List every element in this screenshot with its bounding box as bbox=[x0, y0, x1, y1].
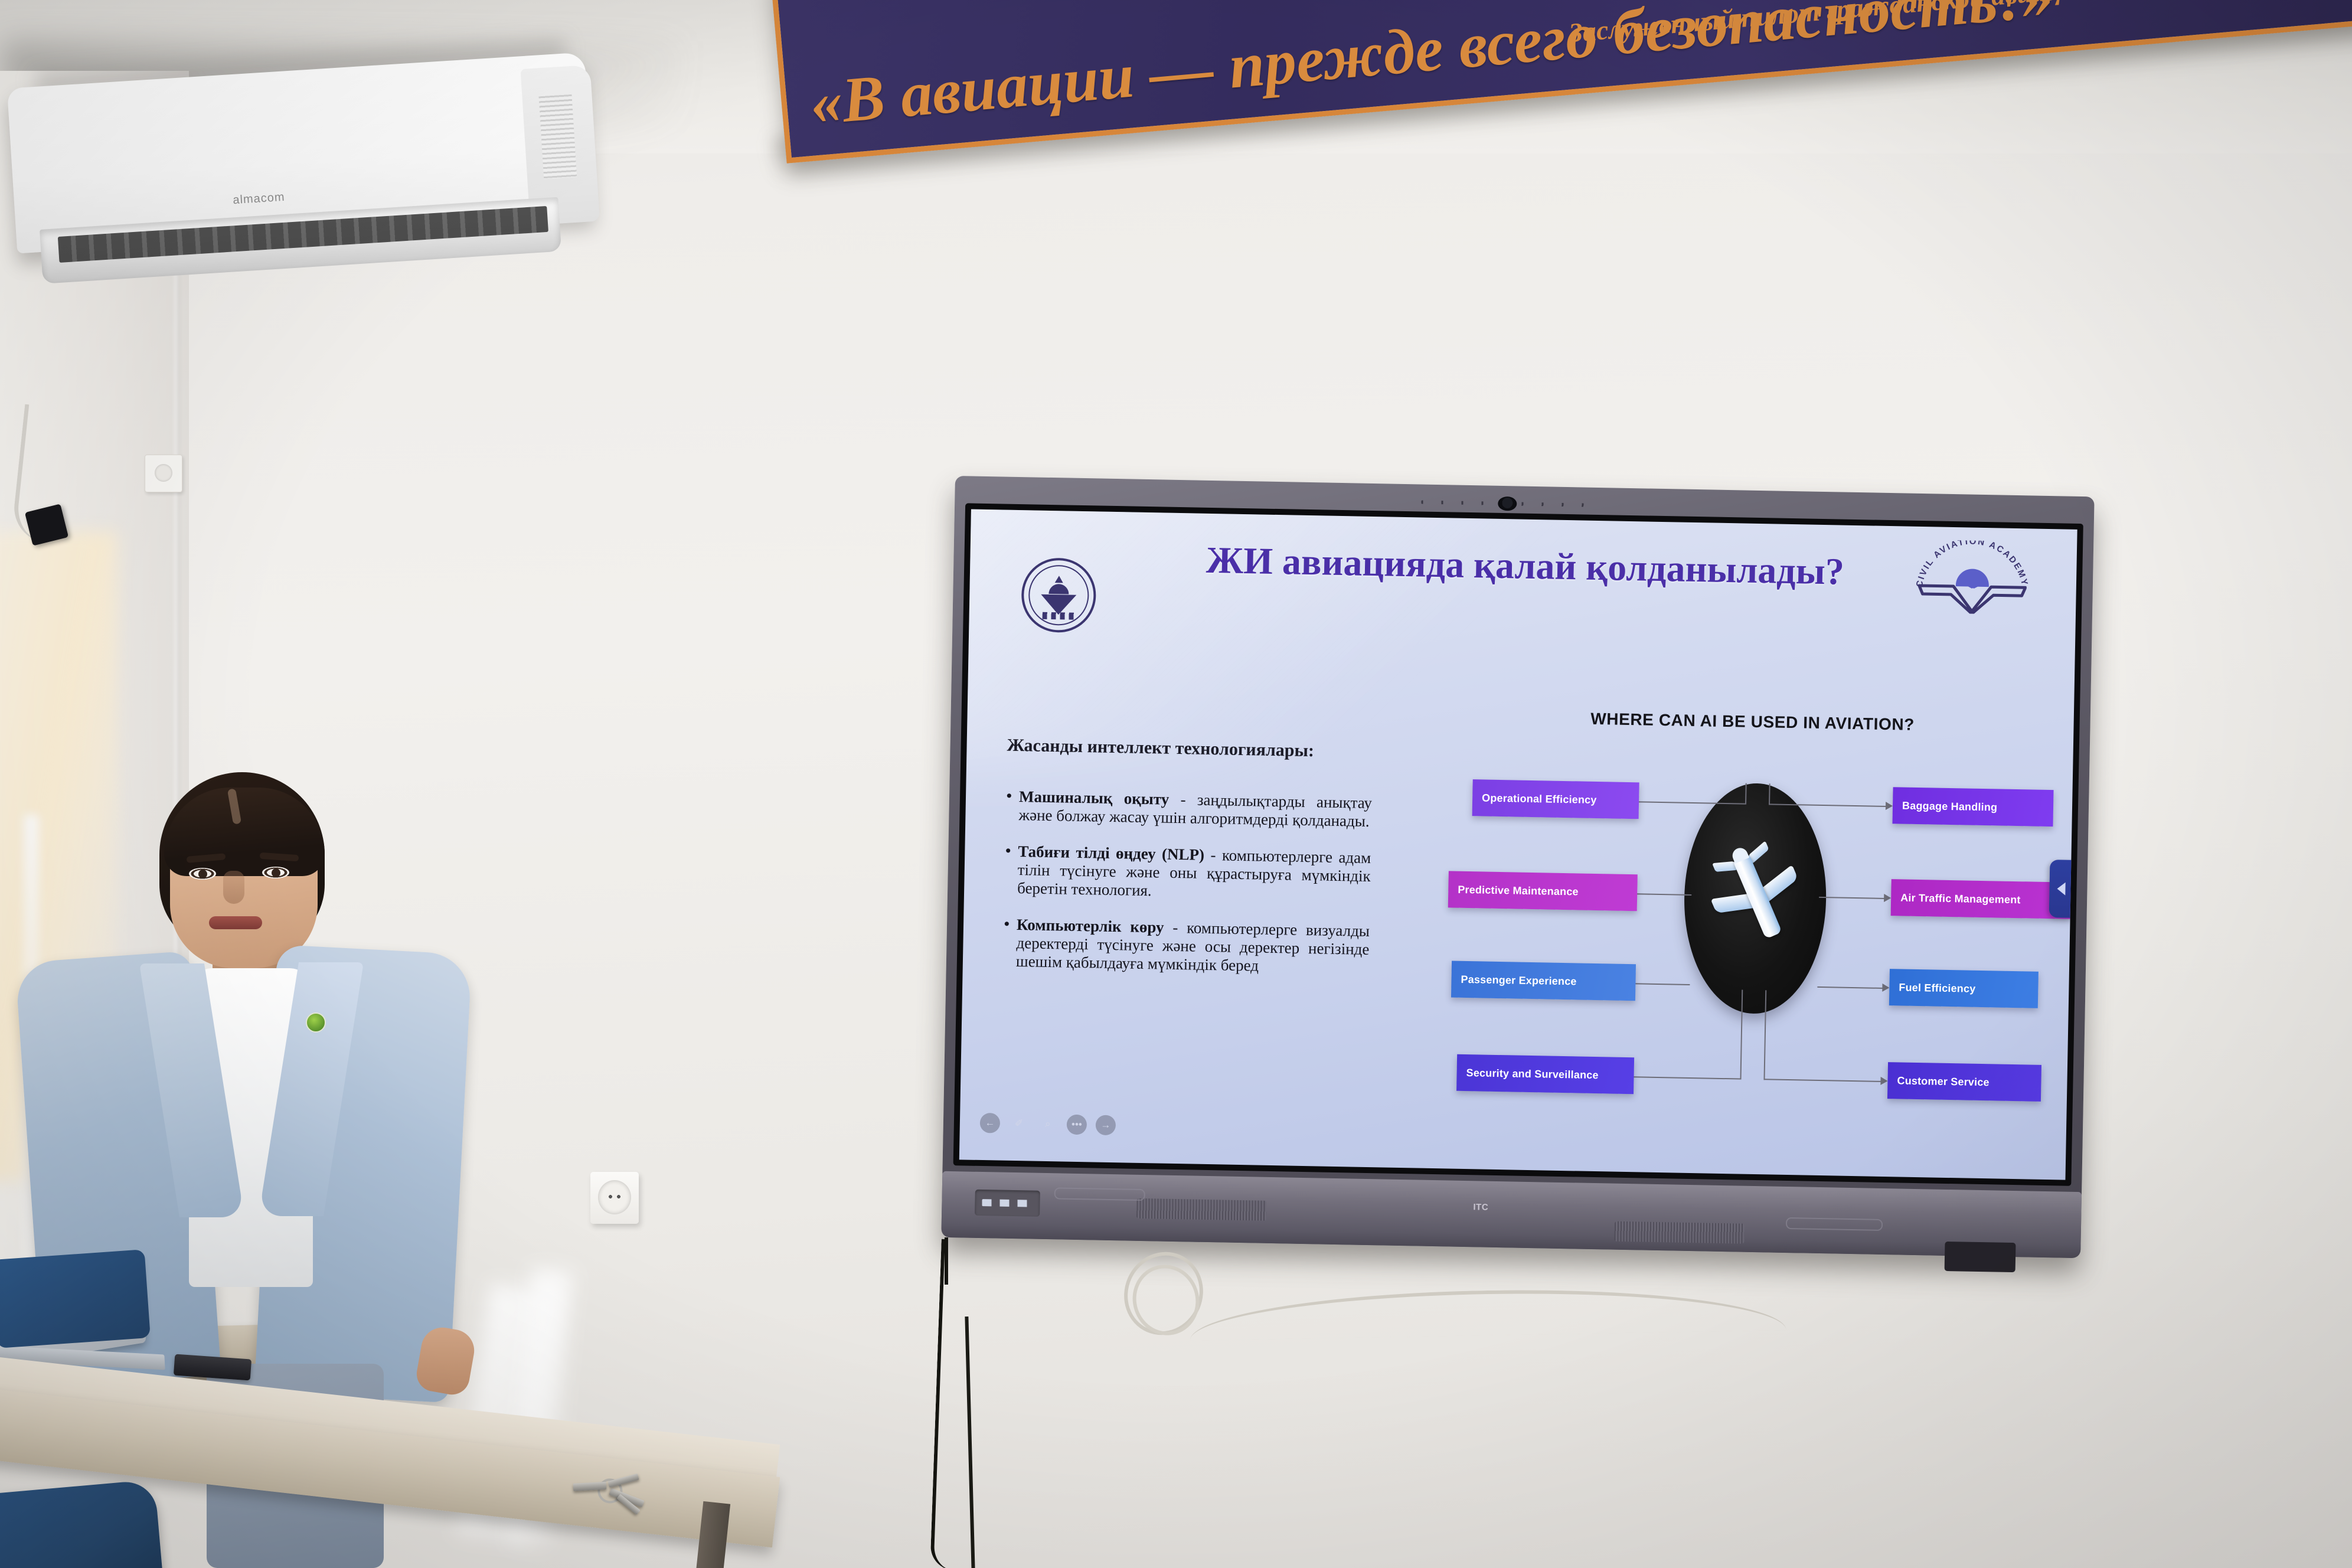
node-label: Passenger Experience bbox=[1461, 973, 1576, 988]
diagram-node-fuel-efficiency[interactable]: Fuel Efficiency bbox=[1889, 969, 2039, 1008]
eye bbox=[189, 868, 216, 880]
nose bbox=[223, 871, 244, 904]
speaker-grille bbox=[1136, 1198, 1267, 1221]
ir-sensor bbox=[1945, 1242, 2016, 1272]
node-label: Customer Service bbox=[1897, 1074, 1990, 1089]
power-outlet bbox=[145, 455, 182, 492]
presentation-slide[interactable]: CIVIL AVIATION ACADEMY bbox=[959, 509, 2077, 1180]
usb-ports[interactable] bbox=[975, 1190, 1040, 1217]
slide-title: ЖИ авиацияда қалай қолданылады? bbox=[1088, 536, 1962, 596]
ac-vent-slots bbox=[539, 94, 577, 179]
diagram-node-air-traffic-management[interactable]: Air Traffic Management bbox=[1891, 879, 2071, 919]
list-item: Табиғи тілді өңдеу (NLP) - компьютерлерг… bbox=[1004, 842, 1371, 904]
node-label: Fuel Efficiency bbox=[1899, 981, 1975, 995]
lapel-pin-icon bbox=[306, 1012, 326, 1033]
slideshow-controls[interactable]: ← ✐ ⌕ ••• → bbox=[980, 1113, 1116, 1135]
previous-slide-button[interactable]: ← bbox=[980, 1113, 1001, 1133]
eye bbox=[262, 867, 289, 878]
node-label: Air Traffic Management bbox=[1900, 891, 2021, 906]
power-outlet bbox=[590, 1172, 639, 1224]
office-chair-back[interactable] bbox=[0, 1249, 151, 1348]
bullet-term: Табиғи тілді өңдеу (NLP) bbox=[1018, 842, 1204, 864]
office-chair[interactable] bbox=[0, 1479, 164, 1568]
slide-left-heading: Жасанды интеллект технологиялары: bbox=[1007, 736, 1314, 762]
node-label: Predictive Maintenance bbox=[1458, 883, 1579, 898]
node-label: Operational Efficiency bbox=[1482, 792, 1597, 806]
zoom-tool-button[interactable]: ⌕ bbox=[1038, 1114, 1059, 1135]
more-options-button[interactable]: ••• bbox=[1067, 1115, 1087, 1135]
diagram-node-baggage-handling[interactable]: Baggage Handling bbox=[1892, 787, 2053, 827]
bullet-term: Машиналық оқыту bbox=[1019, 788, 1170, 808]
handle-slot bbox=[1786, 1217, 1883, 1231]
air-conditioner: almacom bbox=[6, 34, 600, 289]
node-label: Baggage Handling bbox=[1902, 799, 1998, 814]
brand-logo: ITC bbox=[1473, 1202, 1488, 1212]
list-item: Компьютерлік көру - компьютерлерге визуа… bbox=[1003, 915, 1370, 977]
key-ring[interactable] bbox=[571, 1469, 657, 1518]
pen-tool-button[interactable]: ✐ bbox=[1009, 1113, 1030, 1134]
list-item: Машиналық оқыту - заңдылықтарды анықтау … bbox=[1005, 788, 1372, 831]
diagram-title: WHERE CAN AI BE USED IN AVIATION? bbox=[1498, 708, 2006, 736]
diagram-node-customer-service[interactable]: Customer Service bbox=[1887, 1062, 2041, 1102]
mouth bbox=[209, 916, 262, 929]
diagram-node-operational-efficiency[interactable]: Operational Efficiency bbox=[1472, 779, 1639, 819]
ai-aviation-diagram: Operational Efficiency Predictive Mainte… bbox=[1444, 748, 2047, 1148]
side-panel-toggle[interactable] bbox=[2049, 860, 2074, 918]
node-label: Security and Surveillance bbox=[1466, 1067, 1598, 1082]
kaznpu-seal-icon bbox=[1021, 557, 1096, 633]
interactive-flat-panel[interactable]: CIVIL AVIATION ACADEMY bbox=[941, 476, 2094, 1258]
bullet-term: Компьютерлік көру bbox=[1017, 916, 1164, 936]
next-slide-button[interactable]: → bbox=[1096, 1115, 1116, 1136]
handle-slot bbox=[1054, 1187, 1145, 1201]
diagram-node-predictive-maintenance[interactable]: Predictive Maintenance bbox=[1448, 871, 1638, 911]
diagram-node-passenger-experience[interactable]: Passenger Experience bbox=[1451, 961, 1636, 1001]
speaker-grille bbox=[1614, 1221, 1745, 1244]
coiled-cable bbox=[1125, 1240, 1396, 1346]
key bbox=[607, 1474, 639, 1488]
slide-bullet-list: Машиналық оқыту - заңдылықтарды анықтау … bbox=[1002, 788, 1372, 995]
classroom-photo-scene: almacom «В авиации — прежде всего безопа… bbox=[0, 0, 2352, 1568]
diagram-node-security-and-surveillance[interactable]: Security and Surveillance bbox=[1456, 1054, 1634, 1094]
